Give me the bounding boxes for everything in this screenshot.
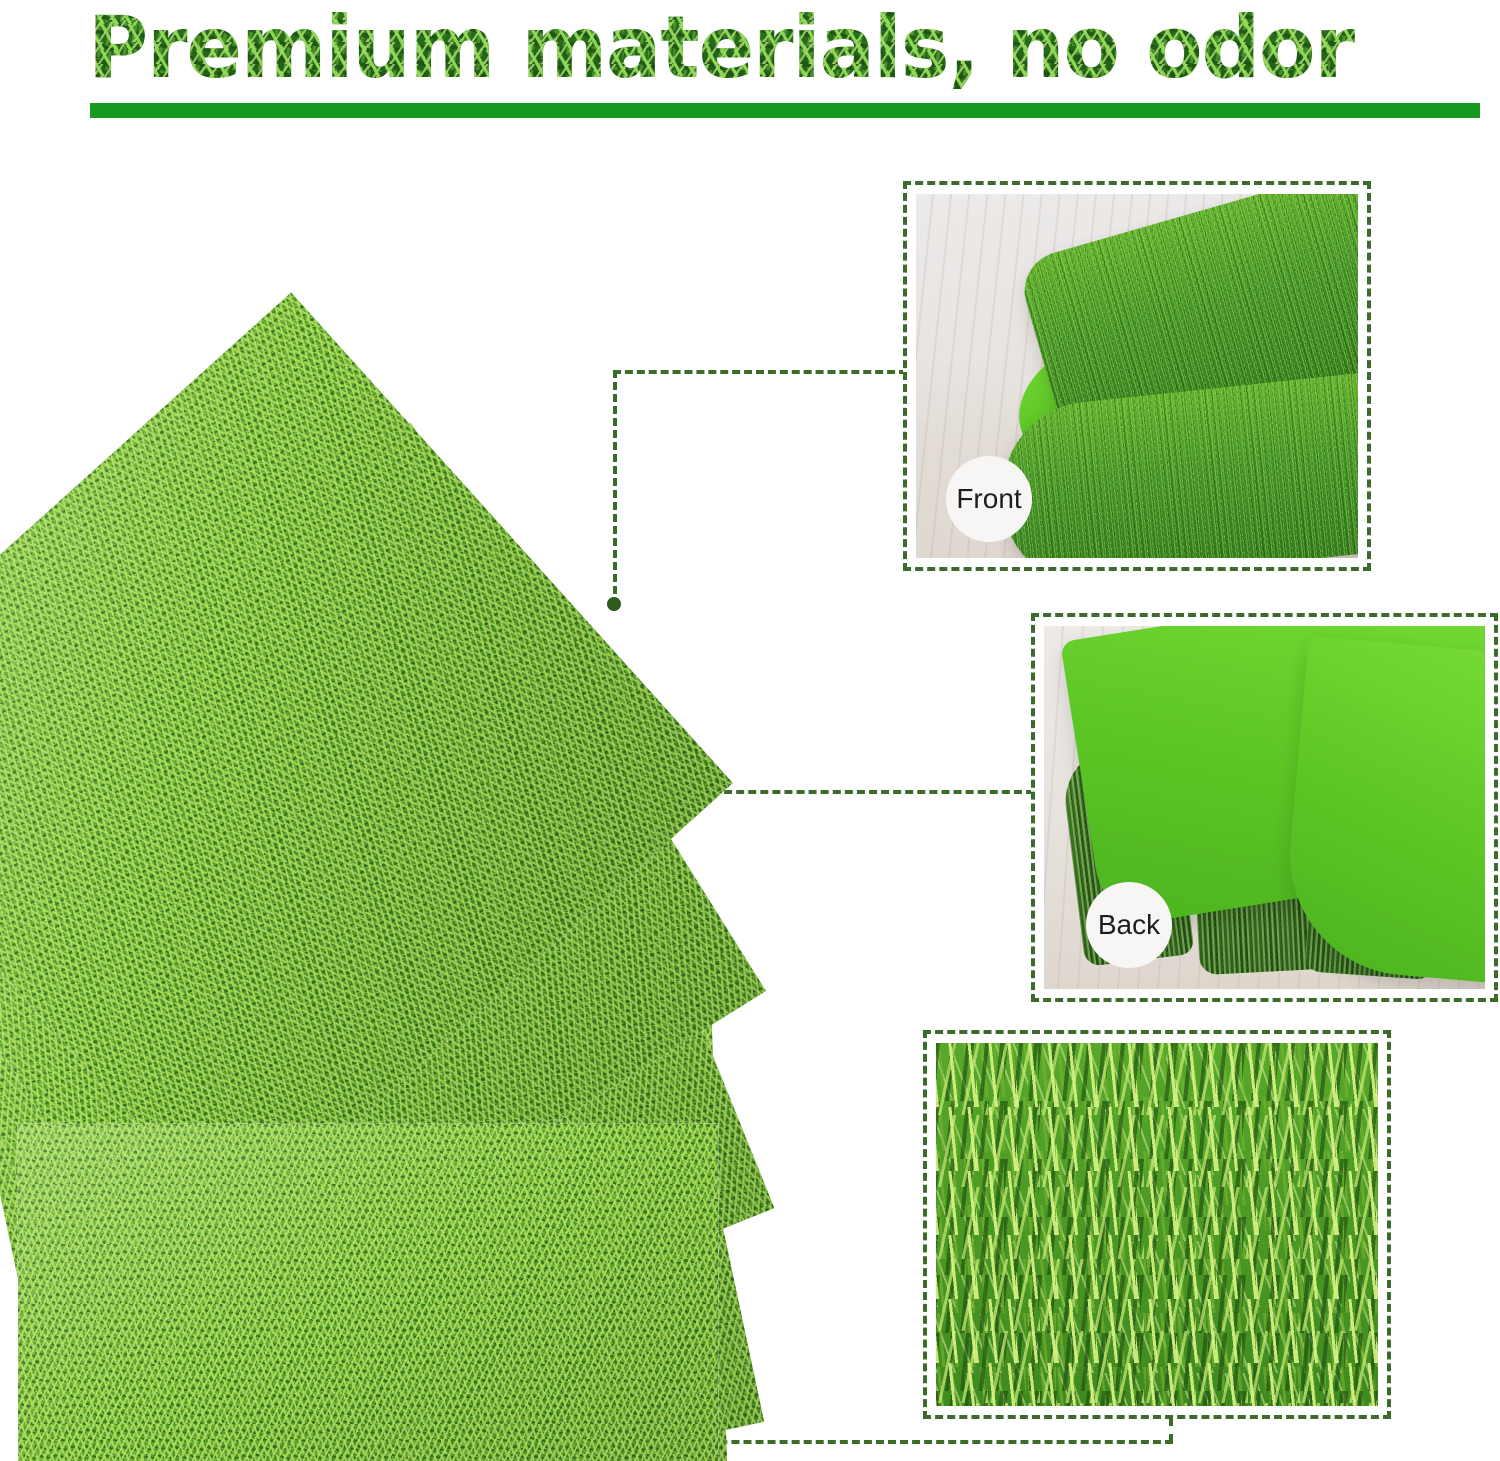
folded-turf-back-face-photo: Back bbox=[1044, 626, 1485, 989]
page-title: Premium materials, no odor bbox=[88, 0, 1500, 98]
connector-line-front-vertical bbox=[613, 370, 617, 606]
face-label-text: Back bbox=[1098, 909, 1160, 941]
title-underline-bar bbox=[90, 103, 1480, 118]
connector-line-back-horizontal bbox=[712, 790, 1034, 794]
connector-line-blades-vertical-end bbox=[1169, 1418, 1173, 1442]
face-label-text: Front bbox=[956, 483, 1021, 515]
connector-dot-front bbox=[607, 597, 621, 611]
status-badge-front: Front bbox=[946, 456, 1032, 542]
callout-panel-back: Back bbox=[1031, 613, 1498, 1002]
status-badge-back: Back bbox=[1086, 882, 1172, 968]
connector-line-front-horizontal bbox=[613, 370, 907, 374]
grass-mat-tile-front bbox=[18, 1124, 718, 1461]
product-infographic: Premium materials, no odor Front bbox=[0, 0, 1500, 1461]
folded-turf-front-face-photo: Front bbox=[916, 194, 1358, 558]
callout-panel-blades bbox=[923, 1030, 1391, 1419]
grass-blades-closeup-photo bbox=[936, 1043, 1378, 1406]
callout-panel-front: Front bbox=[903, 181, 1371, 571]
grass-mat-stack bbox=[0, 252, 770, 1362]
